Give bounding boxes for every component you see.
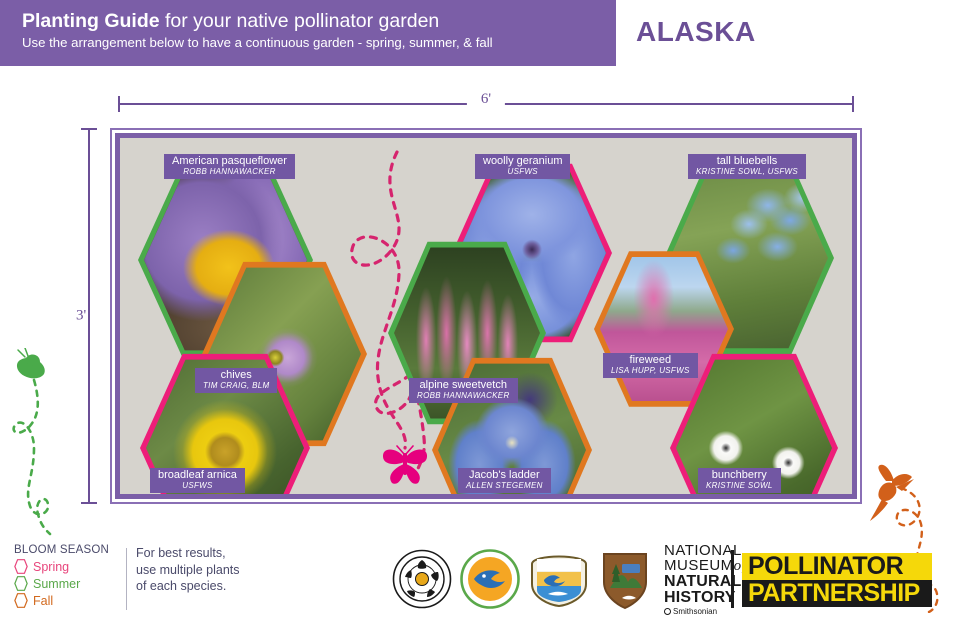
plant-credit: ROBB HANNAWACKER — [172, 168, 287, 176]
best-results-note: For best results, use multiple plants of… — [136, 545, 244, 595]
hexagon-swatch-spring — [14, 559, 28, 574]
page-title-bold: Planting Guide — [22, 10, 160, 32]
plant-name: chives — [203, 370, 269, 382]
plant-name: Jacob's ladder — [466, 470, 543, 482]
footer-divider — [731, 550, 734, 608]
width-dimension-label: 6' — [467, 91, 505, 108]
pp-line-1: POLLINATOR — [742, 553, 932, 580]
nmnh-line-2a: MUSEUM — [664, 557, 734, 574]
plant-credit: TIM CRAIG, BLM — [203, 382, 269, 390]
legend-label-spring: Spring — [33, 560, 69, 574]
ruler-cap-left — [118, 96, 120, 112]
plant-name: broadleaf arnica — [158, 470, 237, 482]
plant-credit: USFWS — [483, 168, 562, 176]
plant-label-fireweed: fireweed LISA HUPP, USFWS — [603, 353, 698, 378]
partner-logos: NATIONAL MUSEUMof NATURAL HISTORY Smiths… — [392, 548, 746, 610]
plant-label-american-pasqueflower: American pasqueflower ROBB HANNAWACKER — [164, 154, 295, 179]
plant-credit: ALLEN STEGEMEN — [466, 482, 543, 490]
plant-name: woolly geranium — [483, 156, 562, 168]
moth-trail-decoration — [8, 348, 78, 538]
plant-label-tall-bluebells: tall bluebells KRISTINE SOWL, USFWS — [688, 154, 806, 179]
page-title-rest: for your native pollinator garden — [160, 10, 440, 32]
ruler-line — [88, 128, 90, 504]
mpgc-logo — [460, 549, 520, 609]
plant-label-alpine-sweetvetch: alpine sweetvetch ROBB HANNAWACKER — [409, 378, 518, 403]
legend-title: BLOOM SEASON — [14, 544, 124, 556]
legend-item-summer: Summer — [14, 575, 124, 592]
height-dimension-label: 3' — [74, 296, 88, 337]
nappc-logo — [392, 549, 452, 609]
pollinator-partnership-logo: POLLINATOR PARTNERSHIP — [742, 553, 932, 607]
plant-label-bunchberry: bunchberry KRISTINE SOWL — [698, 468, 781, 493]
moth-icon — [10, 348, 56, 390]
height-dimension-ruler: 3' — [78, 128, 100, 504]
butterfly-icon — [380, 445, 430, 487]
hexagon-swatch-summer — [14, 576, 28, 591]
plant-label-broadleaf-arnica: broadleaf arnica USFWS — [150, 468, 245, 493]
page-subtitle: Use the arrangement below to have a cont… — [22, 33, 616, 52]
legend-divider — [126, 548, 127, 610]
state-name: ALASKA — [636, 16, 756, 48]
legend-label-summer: Summer — [33, 577, 80, 591]
page-title: Planting Guide for your native pollinato… — [22, 9, 616, 33]
smithsonian-sun-icon — [664, 608, 671, 615]
plant-credit: KRISTINE SOWL — [706, 482, 773, 490]
legend-item-spring: Spring — [14, 558, 124, 575]
plant-credit: LISA HUPP, USFWS — [611, 367, 690, 375]
plant-name: alpine sweetvetch — [417, 380, 510, 392]
ruler-cap-right — [852, 96, 854, 112]
width-dimension-ruler: 6' — [118, 93, 854, 115]
hummingbird-icon — [862, 463, 922, 525]
legend-label-fall: Fall — [33, 594, 53, 608]
plant-name: tall bluebells — [696, 156, 798, 168]
header-bar: Planting Guide for your native pollinato… — [0, 0, 616, 66]
ruler-cap-bottom — [81, 502, 97, 504]
legend-item-fall: Fall — [14, 592, 124, 609]
plant-name: American pasqueflower — [172, 156, 287, 168]
ruler-cap-top — [81, 128, 97, 130]
nps-logo — [598, 548, 652, 610]
hexagon-swatch-fall — [14, 593, 28, 608]
plant-credit: KRISTINE SOWL, USFWS — [696, 168, 798, 176]
smithsonian-label: Smithsonian — [673, 607, 717, 616]
plant-credit: ROBB HANNAWACKER — [417, 392, 510, 400]
plant-label-chives: chives TIM CRAIG, BLM — [195, 368, 277, 393]
pp-line-2: PARTNERSHIP — [742, 580, 932, 607]
plant-credit: USFWS — [158, 482, 237, 490]
garden-plot-frame: American pasqueflower ROBB HANNAWACKER w… — [110, 128, 862, 504]
plant-name: fireweed — [611, 355, 690, 367]
usfws-logo — [528, 550, 590, 608]
plant-name: bunchberry — [706, 470, 773, 482]
plant-label-woolly-geranium: woolly geranium USFWS — [475, 154, 570, 179]
plant-label-jacobs-ladder: Jacob's ladder ALLEN STEGEMEN — [458, 468, 551, 493]
bloom-season-legend: BLOOM SEASON Spring Summer Fall — [14, 544, 124, 609]
garden-plot: American pasqueflower ROBB HANNAWACKER w… — [115, 133, 857, 499]
